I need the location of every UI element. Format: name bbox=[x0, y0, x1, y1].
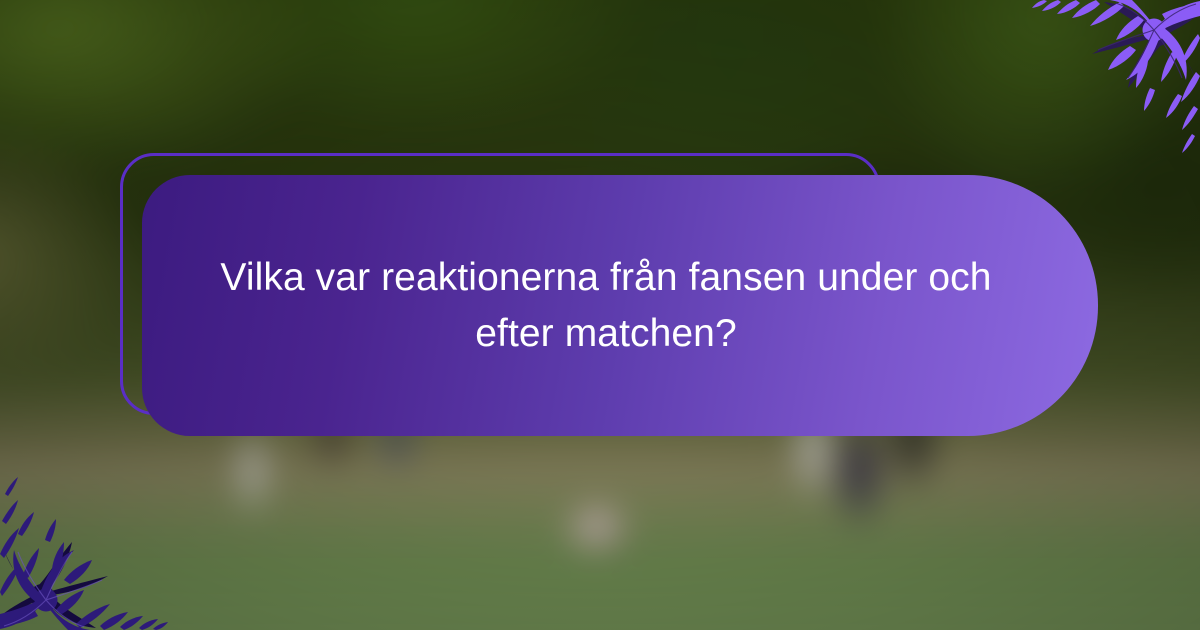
question-card: Vilka var reaktionerna från fansen under… bbox=[142, 175, 1098, 436]
share-card-canvas: Vilka var reaktionerna från fansen under… bbox=[0, 0, 1200, 630]
question-title: Vilka var reaktionerna från fansen under… bbox=[206, 250, 1006, 361]
